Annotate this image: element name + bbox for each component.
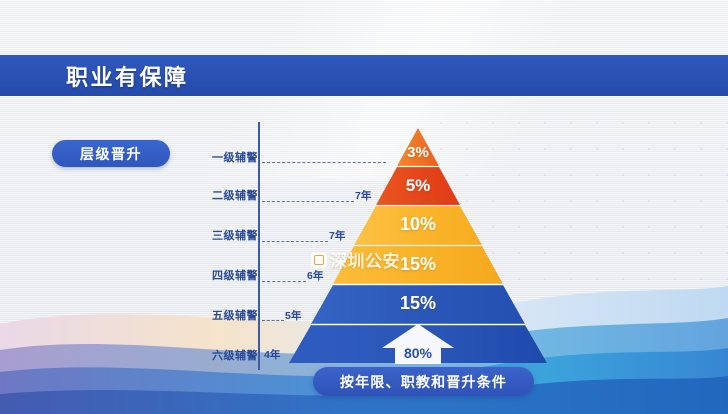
title-band: 职业有保障 [0,55,728,96]
tier-value-6: 80% [258,345,578,361]
pyramid-graphic: 3% 5% 10% 15% 15% 80% [258,120,578,370]
level-label-6: 六级辅警 [184,347,258,363]
level-label-2: 二级辅警 [184,187,258,203]
pyramid-chart: 一级辅警 二级辅警 三级辅警 四级辅警 五级辅警 六级辅警 7年 7年 6年 5… [0,120,728,370]
level-label-1: 一级辅警 [184,149,258,165]
level-label-4: 四级辅警 [184,267,258,283]
footer-banner: 按年限、职教和晋升条件 [313,367,534,396]
page-title: 职业有保障 [66,60,189,92]
footer-banner-label: 按年限、职教和晋升条件 [340,372,507,392]
level-label-3: 三级辅警 [184,227,258,243]
slide-canvas: 职业有保障 层级晋升 一级辅警 二级辅警 三级辅警 四级辅警 五级辅警 六级辅警 [0,0,728,414]
level-label-5: 五级辅警 [184,307,258,323]
